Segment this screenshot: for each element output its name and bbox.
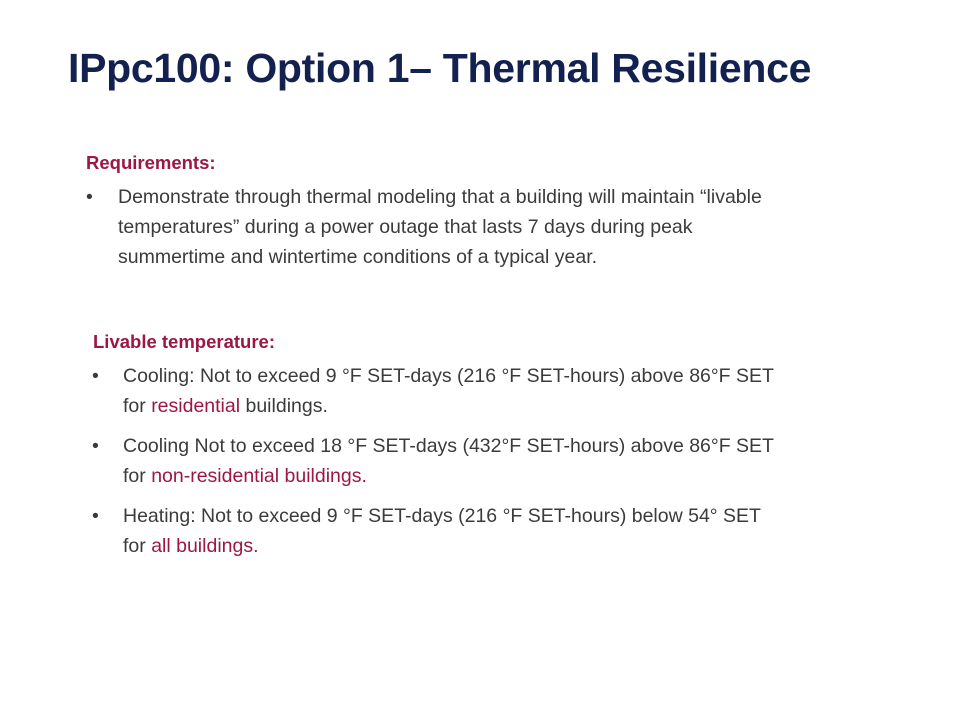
list-item-text: Demonstrate through thermal modeling tha… [118, 186, 762, 268]
highlighted-term: all buildings. [151, 535, 258, 557]
page-title: IPpc100: Option 1– Thermal Resilience [68, 44, 858, 92]
list-item-text: Heating: Not to exceed 9 °F SET-days (21… [123, 505, 761, 557]
bullet-dot-icon: • [86, 182, 93, 212]
section-spacer [0, 274, 960, 329]
livable-temperature-bullet-list: •Cooling: Not to exceed 9 °F SET-days (2… [0, 361, 960, 561]
section-heading-livable-temperature: Livable temperature: [93, 329, 960, 355]
text-run: buildings. [240, 395, 328, 417]
list-item: •Demonstrate through thermal modeling th… [0, 182, 960, 272]
bullet-dot-icon: • [92, 431, 99, 461]
list-item-text: Cooling: Not to exceed 9 °F SET-days (21… [123, 365, 774, 417]
section-requirements: Requirements: •Demonstrate through therm… [0, 150, 960, 272]
slide-body: Requirements: •Demonstrate through therm… [0, 150, 960, 571]
section-heading-requirements: Requirements: [86, 150, 960, 176]
slide: IPpc100: Option 1– Thermal Resilience Re… [0, 0, 960, 720]
section-livable-temperature: Livable temperature: •Cooling: Not to ex… [0, 329, 960, 561]
bullet-dot-icon: • [92, 361, 99, 391]
list-item: •Heating: Not to exceed 9 °F SET-days (2… [0, 501, 960, 561]
highlighted-term: residential [151, 395, 240, 417]
bullet-dot-icon: • [92, 501, 99, 531]
text-run: Demonstrate through thermal modeling tha… [118, 186, 762, 268]
highlighted-term: non-residential buildings. [151, 465, 367, 487]
requirements-bullet-list: •Demonstrate through thermal modeling th… [0, 182, 960, 272]
list-item: •Cooling Not to exceed 18 °F SET-days (4… [0, 431, 960, 491]
list-item-text: Cooling Not to exceed 18 °F SET-days (43… [123, 435, 774, 487]
list-item: •Cooling: Not to exceed 9 °F SET-days (2… [0, 361, 960, 421]
